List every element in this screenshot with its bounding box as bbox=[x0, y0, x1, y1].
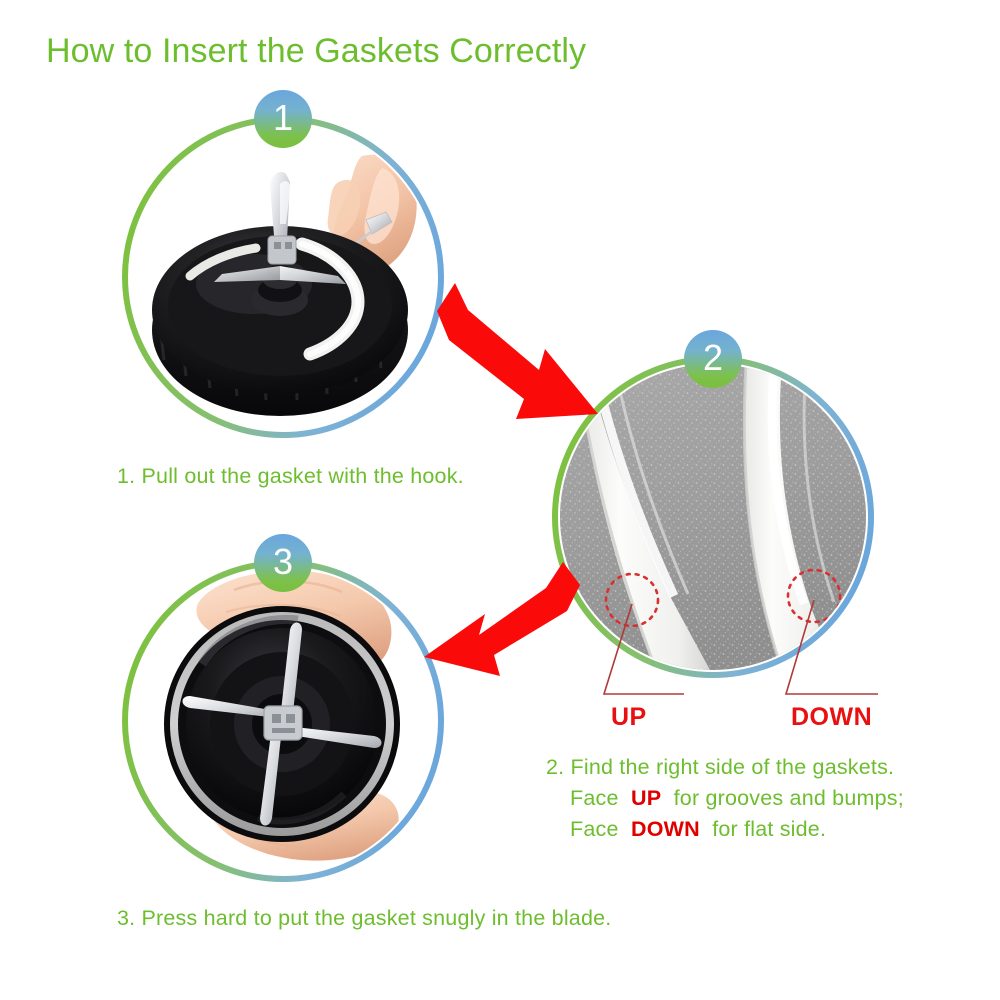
inline-down: DOWN bbox=[631, 817, 700, 841]
step-2-number: 2 bbox=[703, 340, 723, 376]
step-1-caption: 1. Pull out the gasket with the hook. bbox=[117, 464, 464, 489]
step-1-number: 1 bbox=[273, 100, 293, 136]
step-2-caption: 2. Find the right side of the gaskets. F… bbox=[546, 752, 904, 845]
step-2-ring bbox=[548, 352, 878, 682]
step-2-caption-line-3: Face DOWN for flat side. bbox=[546, 814, 904, 845]
step-1-figure: 1 bbox=[118, 112, 448, 442]
step-2-badge: 2 bbox=[684, 330, 742, 388]
step-2-caption-line-1: 2. Find the right side of the gaskets. bbox=[546, 752, 904, 783]
step-2-line-2-rest: for grooves and bumps; bbox=[674, 786, 904, 810]
label-up: UP bbox=[611, 703, 647, 732]
label-down: DOWN bbox=[791, 703, 872, 732]
step-1-ring bbox=[118, 112, 448, 442]
inline-up: UP bbox=[631, 786, 661, 810]
step-3-ring bbox=[118, 556, 448, 886]
step-2-figure: 2 bbox=[548, 352, 878, 682]
step-2-line-3-rest: for flat side. bbox=[712, 817, 826, 841]
page-title: How to Insert the Gaskets Correctly bbox=[46, 32, 586, 71]
step-3-number: 3 bbox=[273, 544, 293, 580]
step-3-figure: 3 bbox=[118, 556, 448, 886]
face-word-2: Face bbox=[570, 817, 619, 841]
step-3-badge: 3 bbox=[254, 534, 312, 592]
step-1-badge: 1 bbox=[254, 90, 312, 148]
face-word-1: Face bbox=[570, 786, 619, 810]
step-3-caption: 3. Press hard to put the gasket snugly i… bbox=[117, 906, 611, 931]
step-2-caption-line-2: Face UP for grooves and bumps; bbox=[546, 783, 904, 814]
